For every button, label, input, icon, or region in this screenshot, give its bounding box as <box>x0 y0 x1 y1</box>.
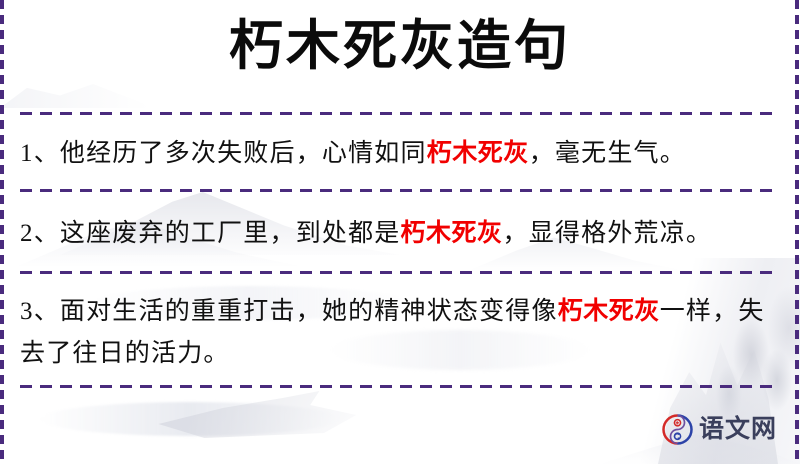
sentence-item-2: 2、这座废弃的工厂里，到处都是朽木死灰，显得格外荒凉。 <box>20 213 788 255</box>
sentence-1-keyword: 朽木死灰 <box>427 140 529 167</box>
site-logo[interactable]: 语文网 <box>662 414 777 445</box>
separator-above-sentence-1 <box>20 112 780 115</box>
sentence-2-keyword: 朽木死灰 <box>401 220 503 247</box>
sentence-1-text-after: ，毫无生气。 <box>529 140 686 167</box>
separator-below-sentence-3 <box>20 385 780 388</box>
sentence-2-text-after: ，显得格外荒凉。 <box>503 220 713 247</box>
yin-yang-circle-icon <box>662 414 693 445</box>
sentence-3-text-before: 面对生活的重重打击，她的精神状态变得像 <box>60 298 558 325</box>
sentence-2-number: 2、 <box>20 220 60 247</box>
sentence-1-text-before: 他经历了多次失败后，心情如同 <box>60 140 427 167</box>
sentence-1-number: 1、 <box>20 140 60 167</box>
watermark-water-reflection <box>40 402 340 436</box>
sentence-2-text-before: 这座废弃的工厂里，到处都是 <box>60 220 401 247</box>
separator-above-sentence-2 <box>20 189 780 192</box>
sentence-item-1: 1、他经历了多次失败后，心情如同朽木死灰，毫无生气。 <box>20 133 788 175</box>
sentence-item-3: 3、面对生活的重重打击，她的精神状态变得像朽木死灰一样，失去了往日的活力。 <box>20 291 780 375</box>
separator-above-sentence-3 <box>20 271 780 274</box>
watermark-boat <box>140 388 370 438</box>
site-logo-text: 语文网 <box>699 417 777 442</box>
slide-canvas: 朽木死灰造句 1、他经历了多次失败后，心情如同朽木死灰，毫无生气。 2、这座废弃… <box>0 0 800 464</box>
sentence-3-number: 3、 <box>20 298 60 325</box>
sentence-3-keyword: 朽木死灰 <box>558 298 660 325</box>
page-title: 朽木死灰造句 <box>0 18 800 75</box>
